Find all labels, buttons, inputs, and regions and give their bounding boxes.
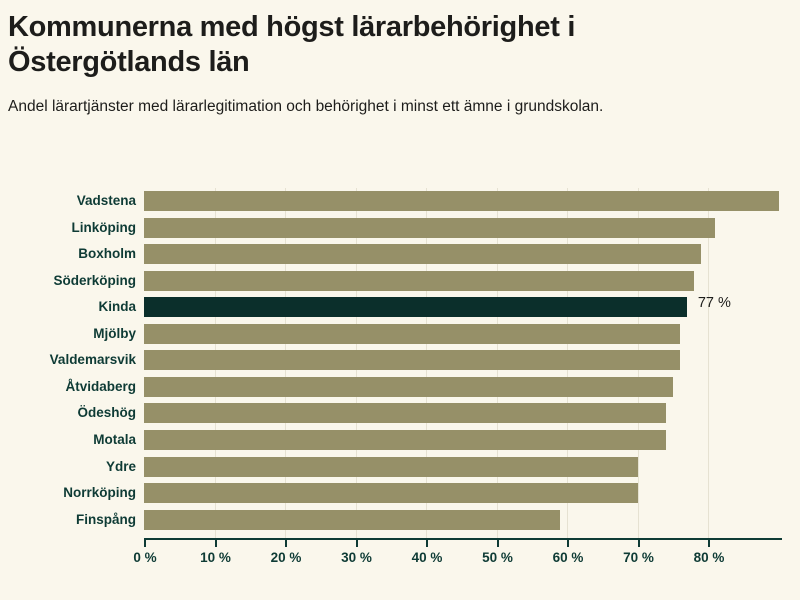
- bar-row[interactable]: [144, 347, 781, 374]
- bar-mj-lby[interactable]: [144, 324, 680, 344]
- bar-valdemarsvik[interactable]: [144, 350, 680, 370]
- bar-row[interactable]: [144, 507, 781, 534]
- bar-motala[interactable]: [144, 430, 666, 450]
- x-tick-80: [708, 538, 710, 547]
- bar-chart: 77 %: [0, 178, 800, 578]
- x-tick-label-70: 70 %: [623, 550, 654, 565]
- x-tick-label-30: 30 %: [341, 550, 372, 565]
- bar-kinda[interactable]: [144, 297, 687, 317]
- x-tick-20: [285, 538, 287, 547]
- x-tick-40: [426, 538, 428, 547]
- x-axis-line: [144, 538, 782, 540]
- bar-finsp-ng[interactable]: [144, 510, 560, 530]
- x-tick-label-20: 20 %: [271, 550, 302, 565]
- bar-row[interactable]: [144, 480, 781, 507]
- bar-row[interactable]: [144, 188, 781, 215]
- bar-row[interactable]: [144, 241, 781, 268]
- bar--tvidaberg[interactable]: [144, 377, 673, 397]
- x-tick-label-80: 80 %: [694, 550, 725, 565]
- x-tick-label-50: 50 %: [482, 550, 513, 565]
- bar-link-ping[interactable]: [144, 218, 715, 238]
- page-title: Kommunerna med högst lärarbehörighet i Ö…: [8, 10, 748, 81]
- bar-row[interactable]: [144, 454, 781, 481]
- x-tick-50: [497, 538, 499, 547]
- x-tick-30: [356, 538, 358, 547]
- x-tick-label-0: 0 %: [133, 550, 156, 565]
- chart-header: Kommunerna med högst lärarbehörighet i Ö…: [0, 0, 800, 117]
- x-tick-70: [638, 538, 640, 547]
- x-tick-label-10: 10 %: [200, 550, 231, 565]
- bar-row[interactable]: [144, 374, 781, 401]
- bar-row[interactable]: [144, 268, 781, 295]
- bar-row[interactable]: [144, 400, 781, 427]
- bar-row[interactable]: [144, 215, 781, 242]
- bar-row[interactable]: [144, 321, 781, 348]
- bar-value-label: 77 %: [698, 295, 731, 311]
- bar-norrk-ping[interactable]: [144, 483, 638, 503]
- bar-boxholm[interactable]: [144, 244, 701, 264]
- bar-row[interactable]: 77 %: [144, 294, 781, 321]
- bar-vadstena[interactable]: [144, 191, 779, 211]
- bar-rows: 77 %: [144, 188, 781, 538]
- bar-s-derk-ping[interactable]: [144, 271, 694, 291]
- x-tick-60: [567, 538, 569, 547]
- bar--desh-g[interactable]: [144, 403, 666, 423]
- plot-area: 77 %: [144, 188, 781, 538]
- x-tick-0: [144, 538, 146, 547]
- x-tick-label-40: 40 %: [412, 550, 443, 565]
- chart-subtitle: Andel lärartjänster med lärarlegitimatio…: [8, 97, 778, 117]
- bar-ydre[interactable]: [144, 457, 638, 477]
- bar-row[interactable]: [144, 427, 781, 454]
- x-tick-10: [215, 538, 217, 547]
- x-tick-label-60: 60 %: [553, 550, 584, 565]
